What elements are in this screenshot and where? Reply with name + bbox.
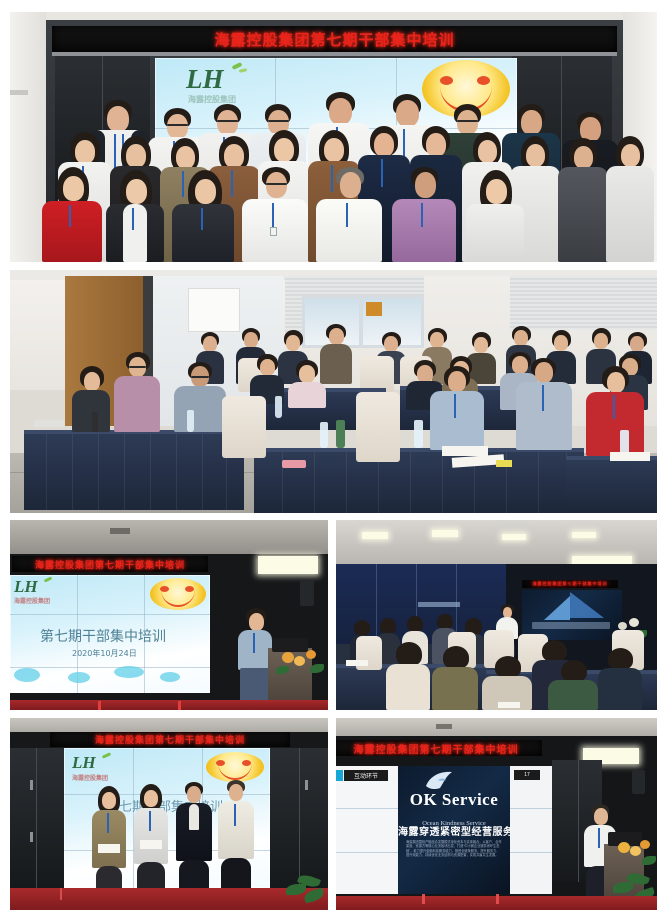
led-banner-text-6: 海露控股集团第七期干部集中培训 xyxy=(354,741,519,756)
slide-page-badge: 17 xyxy=(514,770,540,780)
slide-tag-photo6: 互动环节 xyxy=(344,770,388,781)
award-person-1 xyxy=(92,786,126,896)
slide-title-photo3: 第七期干部集中培训 xyxy=(40,626,166,646)
led-banner-text-4: 海露控股集团第七期干部集中培训 xyxy=(533,581,608,587)
slide-body-ok: 海露集团围绕产融结合发展模式深化资本与实体融合，从客户、合作渠道、资源方等核心业… xyxy=(406,840,502,857)
award-person-3 xyxy=(176,782,212,896)
led-banner-photo3: 海露控股集团第七期干部集中培训 xyxy=(12,556,208,572)
slide-cn-title-ok: 海露穿透紧密型经营服务 xyxy=(398,827,514,838)
slide-title-ok: OK Service xyxy=(410,790,499,809)
photo-award-group: 海露控股集团第七期干部集中培训 LH 海露控股集团 xyxy=(10,718,328,910)
led-banner-photo5: 海露控股集团第七期干部集中培训 xyxy=(50,732,290,747)
photo-collage: 海露控股集团第七期干部集中培训 LH 海露控股集团 xyxy=(0,0,667,922)
award-person-4 xyxy=(218,780,254,896)
award-person-2 xyxy=(134,784,168,896)
slide-heading-photo4 xyxy=(532,622,610,629)
slide-date-photo3: 2020年10月24日 xyxy=(72,648,137,659)
led-banner-photo1: 海露控股集团第七期干部集中培训 xyxy=(52,26,617,52)
photo-classroom-audience xyxy=(10,270,657,513)
photo-speaker-podium: 海露控股集团第七期干部集中培训 LH 海露控股集团 第七期干部集中培训 202 xyxy=(10,520,328,710)
led-banner-text-5: 海露控股集团第七期干部集中培训 xyxy=(95,733,245,746)
led-banner-text-3: 海露控股集团第七期干部集中培训 xyxy=(35,558,185,571)
dolphin-icon xyxy=(424,770,454,792)
company-logo-mark: LH xyxy=(186,66,224,93)
photo-ok-service-presentation: 海露控股集团第七期干部集中培训 互动环节 OK Service xyxy=(336,718,657,910)
photo-group-portrait: 海露控股集团第七期干部集中培训 LH 海露控股集团 xyxy=(10,12,657,262)
led-banner-photo6: 海露控股集团第七期干部集中培训 xyxy=(336,740,542,756)
led-banner-text: 海露控股集团第七期干部集中培训 xyxy=(214,29,454,50)
photo-lecture-hall: 海露控股集团第七期干部集中培训 xyxy=(336,520,657,710)
ok-service-slide: OK Service Ocean Kindness Service 海露穿透紧密… xyxy=(398,766,510,894)
